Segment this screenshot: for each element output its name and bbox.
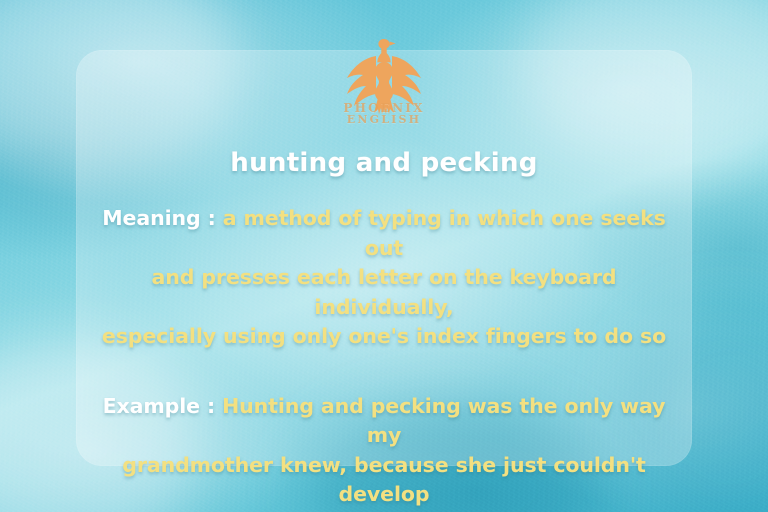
page-title: hunting and pecking: [76, 148, 692, 178]
example-paragraph: Example : Hunting and pecking was the on…: [76, 392, 692, 512]
example-block: Example : Hunting and pecking was the on…: [76, 392, 692, 512]
brand-name-line2: ENGLISH: [343, 114, 424, 125]
meaning-block: Meaning : a method of typing in which on…: [76, 204, 692, 352]
brand-wordmark: PHOENIX ENGLISH: [343, 102, 424, 125]
example-text-2: grandmother knew, because she just could…: [84, 451, 684, 510]
meaning-line-1: Meaning : a method of typing in which on…: [84, 204, 684, 263]
example-text-1: Hunting and pecking was the only way my: [222, 394, 665, 448]
example-label: Example :: [103, 394, 223, 418]
meaning-text-1: a method of typing in which one seeks ou…: [223, 206, 666, 260]
meaning-text-2: and presses each letter on the keyboard …: [84, 263, 684, 322]
poster-canvas: PHOENIX ENGLISH hunting and pecking Mean…: [0, 0, 768, 512]
meaning-label: Meaning :: [102, 206, 223, 230]
poster-content: hunting and pecking Meaning : a method o…: [76, 148, 692, 512]
meaning-text-3: especially using only one's index finger…: [84, 322, 684, 352]
brand-logo: PHOENIX ENGLISH: [0, 36, 768, 125]
meaning-paragraph: Meaning : a method of typing in which on…: [76, 204, 692, 352]
example-line-1: Example : Hunting and pecking was the on…: [84, 392, 684, 451]
